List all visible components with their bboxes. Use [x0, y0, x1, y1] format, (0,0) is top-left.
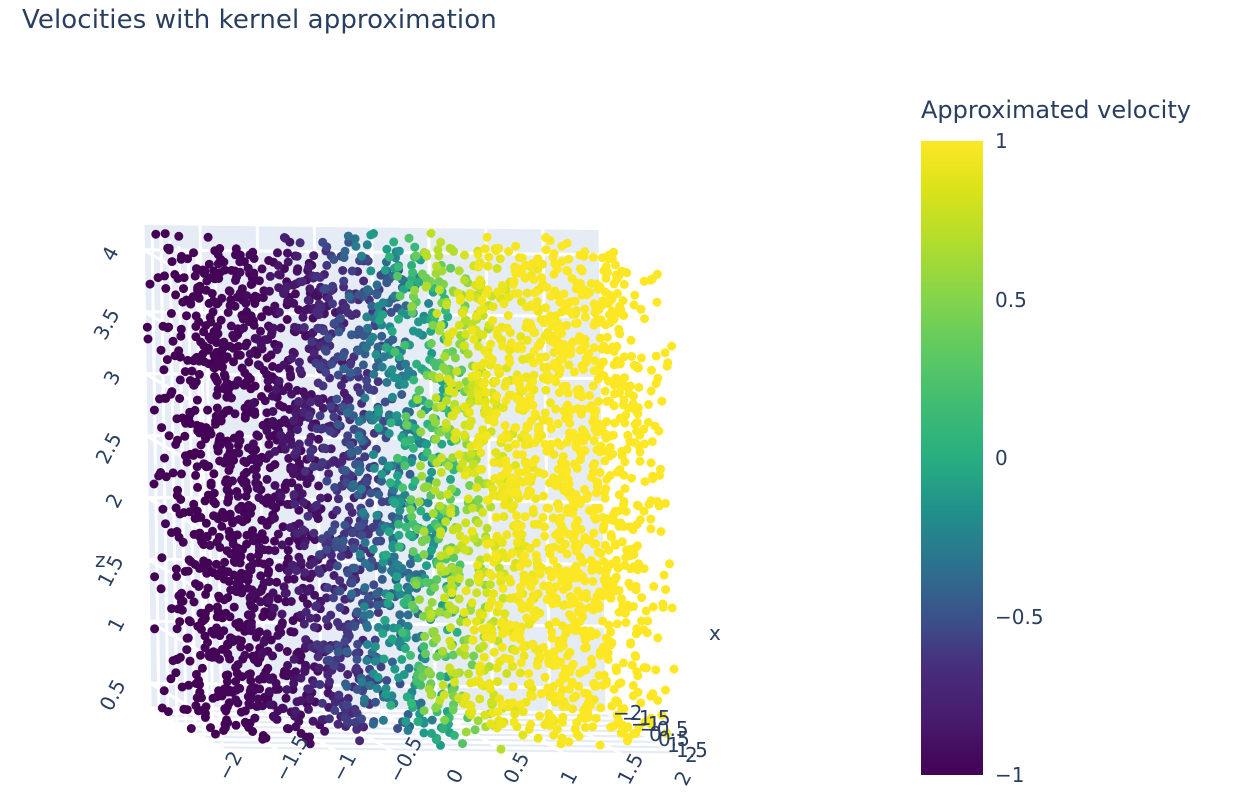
scatter3d-scene[interactable]: 43.532.521.510.5 −2−1.5−1−0.500.511.52 −…	[0, 180, 780, 794]
page-title: Velocities with kernel approximation	[22, 5, 497, 35]
colorbar-gradient[interactable]	[921, 141, 983, 775]
colorbar-tick-label: 0	[995, 446, 1008, 470]
z-axis-title: z	[95, 550, 106, 570]
x-tick-label: 2	[685, 745, 698, 765]
colorbar-title: Approximated velocity	[921, 96, 1191, 124]
colorbar-tick-label: −0.5	[995, 605, 1044, 629]
x-axis-title: x	[709, 623, 721, 643]
colorbar-tick-label: 1	[995, 129, 1008, 153]
colorbar-tick-label: −1	[995, 763, 1024, 787]
colorbar-tick-label: 0.5	[995, 288, 1027, 312]
